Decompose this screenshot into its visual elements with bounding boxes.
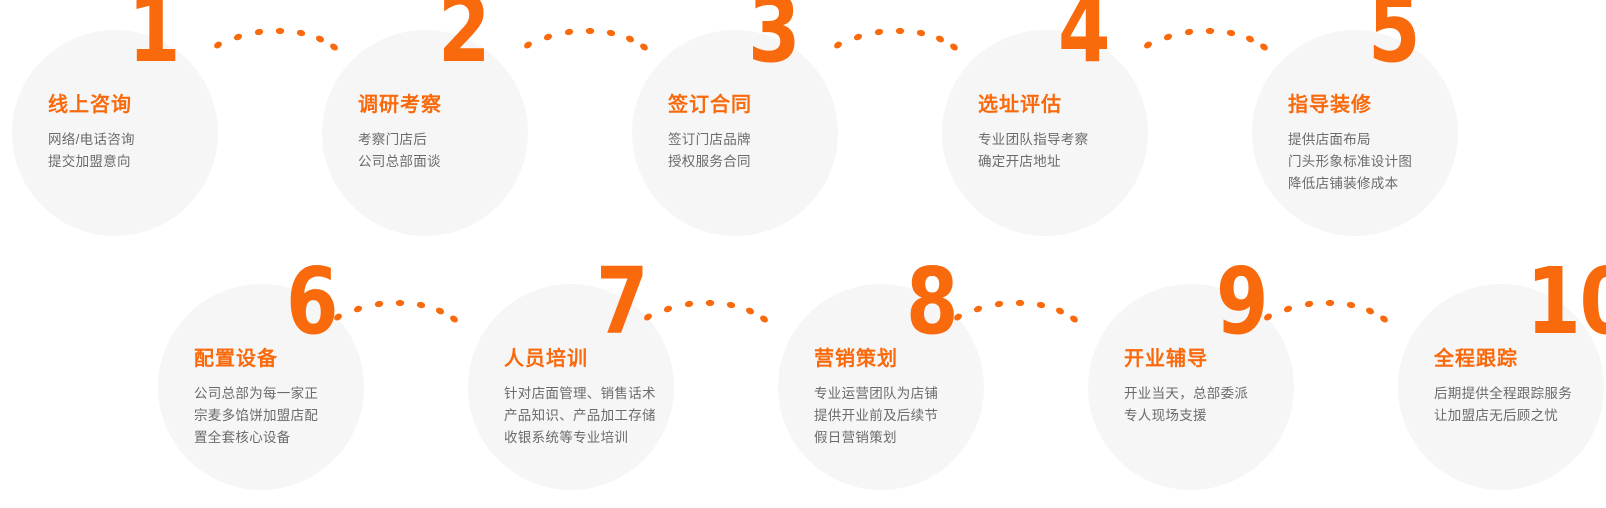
step-description-line: 网络/电话咨询	[48, 129, 298, 151]
step-text-block: 选址评估专业团队指导考察确定开店地址	[978, 92, 1228, 173]
step-number: 5	[1368, 0, 1419, 73]
step-description-line: 公司总部面谈	[358, 151, 608, 173]
step-description: 专业运营团队为店铺提供开业前及后续节假日营销策划	[814, 383, 1064, 449]
process-step-2[interactable]: 2调研考察考察门店后公司总部面谈	[310, 0, 620, 254]
step-text-block: 人员培训针对店面管理、销售话术产品知识、产品加工存储收银系统等专业培训	[504, 346, 754, 449]
process-step-7[interactable]: 7人员培训针对店面管理、销售话术产品知识、产品加工存储收银系统等专业培训	[456, 254, 766, 508]
step-number: 8	[906, 259, 957, 345]
process-step-3[interactable]: 3签订合同签订门店品牌授权服务合同	[620, 0, 930, 254]
step-description: 提供店面布局门头形象标准设计图降低店铺装修成本	[1288, 129, 1538, 195]
step-number: 9	[1216, 259, 1267, 345]
process-step-8[interactable]: 8营销策划专业运营团队为店铺提供开业前及后续节假日营销策划	[766, 254, 1076, 508]
step-description-line: 宗麦多馅饼加盟店配	[194, 405, 444, 427]
step-number: 4	[1058, 0, 1109, 73]
process-row-bottom: 6配置设备公司总部为每一家正宗麦多馅饼加盟店配置全套核心设备7人员培训针对店面管…	[0, 254, 1606, 508]
step-description-line: 专人现场支援	[1124, 405, 1374, 427]
step-description: 签订门店品牌授权服务合同	[668, 129, 918, 173]
step-description-line: 收银系统等专业培训	[504, 427, 754, 449]
step-title: 开业辅导	[1124, 346, 1374, 372]
step-title: 全程跟踪	[1434, 346, 1606, 372]
step-description-line: 开业当天，总部委派	[1124, 383, 1374, 405]
step-title: 人员培训	[504, 346, 754, 372]
step-text-block: 开业辅导开业当天，总部委派专人现场支援	[1124, 346, 1374, 427]
step-description-line: 专业团队指导考察	[978, 129, 1228, 151]
step-description-line: 确定开店地址	[978, 151, 1228, 173]
step-title: 签订合同	[668, 92, 918, 118]
step-description: 针对店面管理、销售话术产品知识、产品加工存储收银系统等专业培训	[504, 383, 754, 449]
step-description-line: 提交加盟意向	[48, 151, 298, 173]
step-description-line: 让加盟店无后顾之忧	[1434, 405, 1606, 427]
process-step-5[interactable]: 5指导装修提供店面布局门头形象标准设计图降低店铺装修成本	[1240, 0, 1550, 254]
step-description-line: 针对店面管理、销售话术	[504, 383, 754, 405]
step-description-line: 授权服务合同	[668, 151, 918, 173]
step-number: 10	[1526, 259, 1606, 345]
step-description: 专业团队指导考察确定开店地址	[978, 129, 1228, 173]
step-description-line: 提供店面布局	[1288, 129, 1538, 151]
step-title: 营销策划	[814, 346, 1064, 372]
step-description: 网络/电话咨询提交加盟意向	[48, 129, 298, 173]
franchise-process-flow: 1线上咨询网络/电话咨询提交加盟意向2调研考察考察门店后公司总部面谈3签订合同签…	[0, 0, 1606, 508]
step-description-line: 考察门店后	[358, 129, 608, 151]
step-text-block: 营销策划专业运营团队为店铺提供开业前及后续节假日营销策划	[814, 346, 1064, 449]
step-description-line: 门头形象标准设计图	[1288, 151, 1538, 173]
step-description: 考察门店后公司总部面谈	[358, 129, 608, 173]
step-text-block: 线上咨询网络/电话咨询提交加盟意向	[48, 92, 298, 173]
process-step-4[interactable]: 4选址评估专业团队指导考察确定开店地址	[930, 0, 1240, 254]
process-step-6[interactable]: 6配置设备公司总部为每一家正宗麦多馅饼加盟店配置全套核心设备	[146, 254, 456, 508]
step-description: 开业当天，总部委派专人现场支援	[1124, 383, 1374, 427]
step-number: 7	[596, 259, 647, 345]
process-step-10[interactable]: 10全程跟踪后期提供全程跟踪服务让加盟店无后顾之忧	[1386, 254, 1606, 508]
process-step-9[interactable]: 9开业辅导开业当天，总部委派专人现场支援	[1076, 254, 1386, 508]
step-text-block: 指导装修提供店面布局门头形象标准设计图降低店铺装修成本	[1288, 92, 1538, 195]
step-description-line: 置全套核心设备	[194, 427, 444, 449]
step-number: 2	[438, 0, 489, 73]
step-title: 指导装修	[1288, 92, 1538, 118]
step-title: 线上咨询	[48, 92, 298, 118]
step-text-block: 调研考察考察门店后公司总部面谈	[358, 92, 608, 173]
step-title: 调研考察	[358, 92, 608, 118]
step-description-line: 降低店铺装修成本	[1288, 173, 1538, 195]
step-description-line: 提供开业前及后续节	[814, 405, 1064, 427]
step-text-block: 签订合同签订门店品牌授权服务合同	[668, 92, 918, 173]
step-description: 公司总部为每一家正宗麦多馅饼加盟店配置全套核心设备	[194, 383, 444, 449]
step-text-block: 全程跟踪后期提供全程跟踪服务让加盟店无后顾之忧	[1434, 346, 1606, 427]
process-step-1[interactable]: 1线上咨询网络/电话咨询提交加盟意向	[0, 0, 310, 254]
step-description-line: 后期提供全程跟踪服务	[1434, 383, 1606, 405]
step-description-line: 公司总部为每一家正	[194, 383, 444, 405]
step-description-line: 假日营销策划	[814, 427, 1064, 449]
step-description: 后期提供全程跟踪服务让加盟店无后顾之忧	[1434, 383, 1606, 427]
step-number: 6	[286, 259, 337, 345]
step-description-line: 签订门店品牌	[668, 129, 918, 151]
step-title: 配置设备	[194, 346, 444, 372]
step-description-line: 专业运营团队为店铺	[814, 383, 1064, 405]
process-row-top: 1线上咨询网络/电话咨询提交加盟意向2调研考察考察门店后公司总部面谈3签订合同签…	[0, 0, 1606, 254]
step-description-line: 产品知识、产品加工存储	[504, 405, 754, 427]
step-number: 3	[748, 0, 799, 73]
step-number: 1	[128, 0, 179, 73]
step-text-block: 配置设备公司总部为每一家正宗麦多馅饼加盟店配置全套核心设备	[194, 346, 444, 449]
step-title: 选址评估	[978, 92, 1228, 118]
